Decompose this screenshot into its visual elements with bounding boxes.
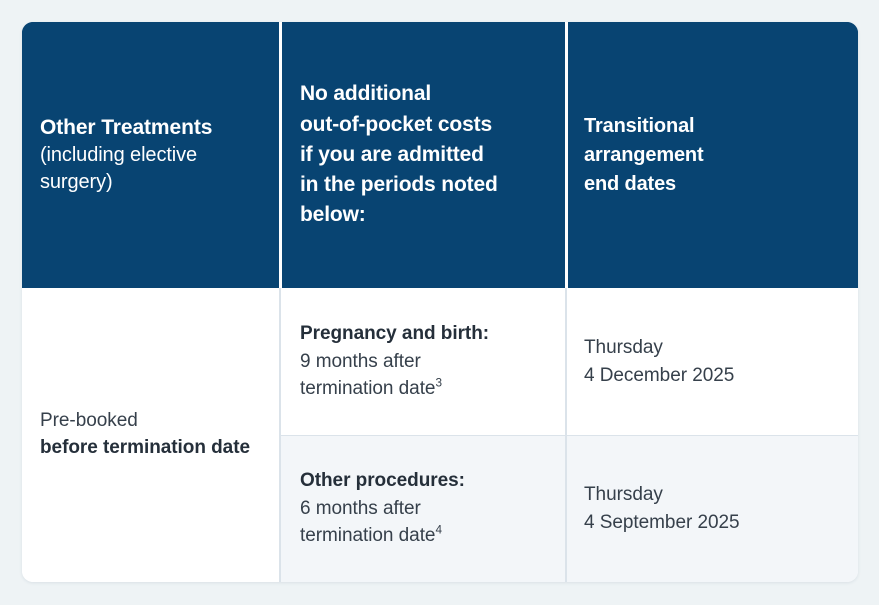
period-line-2: termination date3	[300, 375, 547, 403]
date-weekday: Thursday	[584, 481, 840, 509]
period-label: Other procedures:	[300, 467, 547, 495]
header-enddates-line-2: arrangement	[584, 141, 840, 170]
table-header-transitional-end-dates: Transitional arrangement end dates	[567, 22, 858, 288]
footnote-marker: 4	[435, 524, 442, 537]
period-line-1: 6 months after	[300, 495, 547, 523]
transitional-arrangements-table: Other Treatments (including elective sur…	[22, 22, 858, 582]
period-line-2-text: termination date	[300, 378, 435, 399]
header-subtitle-line-2: surgery)	[40, 169, 263, 196]
header-enddates-line-3: end dates	[584, 170, 840, 199]
table-body: Pre-booked before termination date Pregn…	[22, 288, 858, 582]
row-header-line-1: Pre-booked	[40, 408, 261, 435]
row-header-pre-booked: Pre-booked before termination date	[22, 288, 281, 582]
cell-end-date-other-procedures: Thursday 4 September 2025	[567, 435, 858, 582]
period-label: Pregnancy and birth:	[300, 320, 547, 348]
header-title-other-treatments: Other Treatments	[40, 114, 263, 142]
cell-period-other-procedures: Other procedures: 6 months after termina…	[281, 435, 567, 582]
header-enddates-line-1: Transitional	[584, 112, 840, 141]
header-costs-line-4: in the periods noted	[300, 170, 549, 200]
date-value: 4 December 2025	[584, 362, 840, 390]
table-header-other-treatments: Other Treatments (including elective sur…	[22, 22, 281, 288]
header-costs-line-5: below:	[300, 200, 549, 230]
table-row: Other procedures: 6 months after termina…	[281, 435, 858, 582]
table-header-row: Other Treatments (including elective sur…	[22, 22, 858, 288]
row-header-line-2: before termination date	[40, 435, 261, 462]
header-costs-line-3: if you are admitted	[300, 140, 549, 170]
footnote-marker: 3	[435, 377, 442, 390]
period-line-1: 9 months after	[300, 348, 547, 376]
header-costs-line-2: out-of-pocket costs	[300, 110, 549, 140]
table-data-rows: Pregnancy and birth: 9 months after term…	[281, 288, 858, 582]
date-value: 4 September 2025	[584, 509, 840, 537]
cell-end-date-pregnancy: Thursday 4 December 2025	[567, 288, 858, 435]
period-line-2: termination date4	[300, 522, 547, 550]
header-costs-line-1: No additional	[300, 79, 549, 109]
table-header-no-additional-costs: No additional out-of-pocket costs if you…	[281, 22, 567, 288]
table-row: Pregnancy and birth: 9 months after term…	[281, 288, 858, 435]
date-weekday: Thursday	[584, 334, 840, 362]
period-line-2-text: termination date	[300, 525, 435, 546]
cell-period-pregnancy: Pregnancy and birth: 9 months after term…	[281, 288, 567, 435]
header-subtitle-line-1: (including elective	[40, 142, 263, 169]
